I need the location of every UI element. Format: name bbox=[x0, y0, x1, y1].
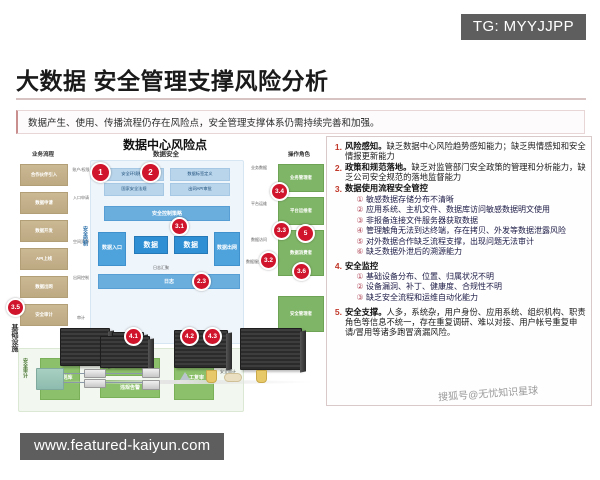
risk-badge-3.3[interactable]: 3.3 bbox=[272, 221, 291, 240]
risk-heading: 风险感知。 bbox=[345, 141, 387, 151]
wire-3 bbox=[105, 373, 143, 374]
data-store-b[interactable]: 数据 bbox=[174, 236, 208, 254]
header-roles: 操作角色 bbox=[270, 150, 328, 158]
flow-step-1[interactable]: 数据申请 bbox=[20, 192, 68, 214]
flow-arrow-1: 入口申请 bbox=[70, 196, 92, 201]
infrastructure-row: 基础设施 bbox=[8, 318, 324, 396]
control-policy-band[interactable]: 安全控制策略 bbox=[104, 206, 230, 221]
risk-body: 数据使用流程安全管控①敏感数据存储分布不清晰②应用系统、主机文件、数据库访问敏感… bbox=[345, 183, 587, 259]
risk-heading: 数据使用流程安全管控 bbox=[345, 183, 428, 193]
storage-disk-2 bbox=[142, 380, 160, 390]
data-entry-box[interactable]: 数据入口 bbox=[98, 232, 126, 266]
page-title-part1: 大数据 bbox=[16, 68, 87, 94]
header-flow: 业务流程 bbox=[14, 150, 72, 158]
risk-badge-3.5[interactable]: 3.5 bbox=[6, 298, 25, 317]
risk-number: 1. bbox=[329, 141, 345, 161]
risk-sublist: ①敏感数据存储分布不清晰②应用系统、主机文件、数据库访问敏感数据明文使用③非报备… bbox=[345, 195, 587, 258]
risk-sub-marker: ② bbox=[354, 282, 366, 293]
flow-step-0[interactable]: 合作伙伴引入 bbox=[20, 164, 68, 186]
risk-sub-item: ①基础设备分布、位置、归属状况不明 bbox=[354, 272, 587, 283]
role-flow-label-2: 数据访问 bbox=[244, 238, 274, 242]
risk-sub-item: ⑥缺乏数据外泄后的溯源能力 bbox=[354, 247, 587, 258]
server-rack-5 bbox=[240, 328, 302, 370]
storage-disk-1 bbox=[142, 368, 160, 378]
risk-heading: 政策和规范落地。 bbox=[345, 162, 411, 172]
risk-sub-text: 设备漏洞、补丁、健康度、合规性不明 bbox=[366, 282, 587, 293]
risk-sub-text: 应用系统、主机文件、数据库访问敏感数据明文使用 bbox=[366, 205, 587, 216]
risk-body: 安全监控①基础设备分布、位置、归属状况不明②设备漏洞、补丁、健康度、合规性不明③… bbox=[345, 261, 587, 306]
firewall-icon bbox=[206, 370, 217, 383]
risk-sub-item: ③缺乏安全流程和运维自动化能力 bbox=[354, 293, 587, 304]
antenna-icon bbox=[180, 372, 190, 380]
log-band[interactable]: 日志 bbox=[98, 274, 240, 289]
flow-step-3[interactable]: API上线 bbox=[20, 248, 68, 270]
storage-unit bbox=[36, 368, 64, 390]
risk-body: 风险感知。缺乏数据中心风险趋势感知能力；缺乏舆情感知和安全情报更新能力 bbox=[345, 141, 587, 161]
risk-item: 5.安全支撑。人多，系统杂，用户身份、应用系统、组织机构、职责角色等信息不统一，… bbox=[329, 307, 587, 337]
data-store-a[interactable]: 数据 bbox=[134, 236, 168, 254]
risk-item: 1.风险感知。缺乏数据中心风险趋势感知能力；缺乏舆情感知和安全情报更新能力 bbox=[329, 141, 587, 161]
security-control-label: 安全控制 bbox=[82, 226, 87, 246]
header-security: 数据安全 bbox=[126, 148, 206, 158]
risk-body: 政策和规范落地。缺乏对监管部门安全政策的管理和分析能力，缺乏公司安全规范的落地监… bbox=[345, 162, 587, 182]
risk-body: 安全支撑。人多，系统杂，用户身份、应用系统、组织机构、职责角色等信息不统一，存在… bbox=[345, 307, 587, 337]
risk-badge-3.6[interactable]: 3.6 bbox=[292, 262, 311, 281]
risk-sub-text: 缺乏安全流程和运维自动化能力 bbox=[366, 293, 587, 304]
risk-sub-marker: ⑥ bbox=[354, 247, 366, 258]
risk-sub-text: 敏感数据存储分布不清晰 bbox=[366, 195, 587, 206]
risk-sub-item: ⑤对外数据合作缺乏流程支撑，出现问题无法审计 bbox=[354, 237, 587, 248]
agent-icon bbox=[256, 370, 267, 383]
infrastructure-label: 基础设施 bbox=[10, 324, 18, 352]
site-url-tag: www.featured-kaiyun.com bbox=[20, 433, 224, 460]
risk-heading: 安全支撑。 bbox=[345, 307, 387, 317]
flow-column: 合作伙伴引入 数据申请 数据开发 API上线 数据出网 安全审计 bbox=[20, 164, 66, 332]
log-aggregate-note: 日志汇聚 bbox=[136, 266, 186, 270]
risk-sub-marker: ① bbox=[354, 195, 366, 206]
tg-tag: TG: MYYJJPP bbox=[461, 14, 586, 40]
risk-list: 1.风险感知。缺乏数据中心风险趋势感知能力；缺乏舆情感知和安全情报更新能力2.政… bbox=[329, 141, 587, 337]
risk-sub-item: ④管理触角无法到达终端，存在拷贝、外发等数据泄露风险 bbox=[354, 226, 587, 237]
network-switch-1 bbox=[84, 369, 106, 378]
risk-badge-2[interactable]: 2 bbox=[140, 162, 161, 183]
policy-box-bottom-right[interactable]: 出网API审批 bbox=[170, 183, 230, 196]
flow-step-2[interactable]: 数据开发 bbox=[20, 220, 68, 242]
risk-item: 2.政策和规范落地。缺乏对监管部门安全政策的管理和分析能力，缺乏公司安全规范的落… bbox=[329, 162, 587, 182]
risk-sub-item: ②设备漏洞、补丁、健康度、合规性不明 bbox=[354, 282, 587, 293]
risk-sub-marker: ③ bbox=[354, 216, 366, 227]
risk-sub-marker: ④ bbox=[354, 226, 366, 237]
risk-sub-text: 缺乏数据外泄后的溯源能力 bbox=[366, 247, 587, 258]
flow-arrow-0: 账户/权限 bbox=[70, 168, 92, 173]
risk-number: 3. bbox=[329, 183, 345, 259]
risk-sub-text: 管理触角无法到达终端，存在拷贝、外发等数据泄露风险 bbox=[366, 226, 587, 237]
slide-root: TG: MYYJJPP www.featured-kaiyun.com 大数据安… bbox=[0, 0, 600, 480]
risk-number: 4. bbox=[329, 261, 345, 306]
role-flow-label-0: 业务数据 bbox=[244, 166, 274, 170]
page-title-part2: 安全管理支撑风险分析 bbox=[94, 68, 329, 94]
risk-item: 3.数据使用流程安全管控①敏感数据存储分布不清晰②应用系统、主机文件、数据库访问… bbox=[329, 183, 587, 259]
risk-heading: 安全监控 bbox=[345, 261, 378, 271]
policy-box-bottom-left[interactable]: 国家安全法规 bbox=[104, 183, 164, 196]
risk-sub-item: ③非报备连接文件服务器获取数据 bbox=[354, 216, 587, 227]
subtitle-callout: 数据产生、使用、传播流程仍存在风险点，安全管理支撑体系仍需持续完善和加强。 bbox=[16, 110, 585, 134]
risk-badge-3.2[interactable]: 3.2 bbox=[259, 251, 278, 270]
risk-sub-marker: ② bbox=[354, 205, 366, 216]
title-divider bbox=[16, 98, 586, 100]
risk-sub-text: 对外数据合作缺乏流程支撑，出现问题无法审计 bbox=[366, 237, 587, 248]
wire-2 bbox=[63, 382, 85, 383]
role-flow-label-1: 平台运维 bbox=[244, 202, 274, 206]
flow-step-4[interactable]: 数据出网 bbox=[20, 276, 68, 298]
risk-badge-4.1[interactable]: 4.1 bbox=[124, 327, 143, 346]
risk-badge-4.3[interactable]: 4.3 bbox=[203, 327, 222, 346]
risk-sub-marker: ③ bbox=[354, 293, 366, 304]
risk-badge-3.1[interactable]: 3.1 bbox=[170, 217, 189, 236]
risk-sub-item: ②应用系统、主机文件、数据库访问敏感数据明文使用 bbox=[354, 205, 587, 216]
risk-sub-marker: ⑤ bbox=[354, 237, 366, 248]
risk-sublist: ①基础设备分布、位置、归属状况不明②设备漏洞、补丁、健康度、合规性不明③缺乏安全… bbox=[345, 272, 587, 304]
page-title: 大数据安全管理支撑风险分析 bbox=[16, 62, 329, 96]
risk-item: 4.安全监控①基础设备分布、位置、归属状况不明②设备漏洞、补丁、健康度、合规性不… bbox=[329, 261, 587, 306]
risk-badge-2.3[interactable]: 2.3 bbox=[192, 272, 211, 291]
subtitle-text: 数据产生、使用、传播流程仍存在风险点，安全管理支撑体系仍需持续完善和加强。 bbox=[18, 115, 380, 129]
policy-box-top-right[interactable]: 数据标签定义 bbox=[170, 168, 230, 181]
risk-badge-3.4[interactable]: 3.4 bbox=[270, 182, 289, 201]
wire-1 bbox=[63, 373, 85, 374]
risk-number: 5. bbox=[329, 307, 345, 337]
flow-arrow-2: 空间资源 bbox=[70, 240, 92, 245]
risk-sub-text: 非报备连接文件服务器获取数据 bbox=[366, 216, 587, 227]
risk-badge-4.2[interactable]: 4.2 bbox=[180, 327, 199, 346]
risk-badge-1[interactable]: 1 bbox=[90, 162, 111, 183]
risk-sub-item: ①敏感数据存储分布不清晰 bbox=[354, 195, 587, 206]
risk-sub-text: 基础设备分布、位置、归属状况不明 bbox=[366, 272, 587, 283]
risk-sub-marker: ① bbox=[354, 272, 366, 283]
flow-arrow-3: 出网控制 bbox=[70, 276, 92, 281]
risk-number: 2. bbox=[329, 162, 345, 182]
network-switch-2 bbox=[84, 379, 106, 388]
data-exit-box[interactable]: 数据出网 bbox=[214, 232, 240, 266]
gateway-icon bbox=[224, 373, 242, 382]
risk-badge-5[interactable]: 5 bbox=[296, 224, 315, 243]
risk-list-panel: 1.风险感知。缺乏数据中心风险趋势感知能力；缺乏舆情感知和安全情报更新能力2.政… bbox=[326, 136, 592, 406]
wire-4 bbox=[105, 382, 143, 383]
